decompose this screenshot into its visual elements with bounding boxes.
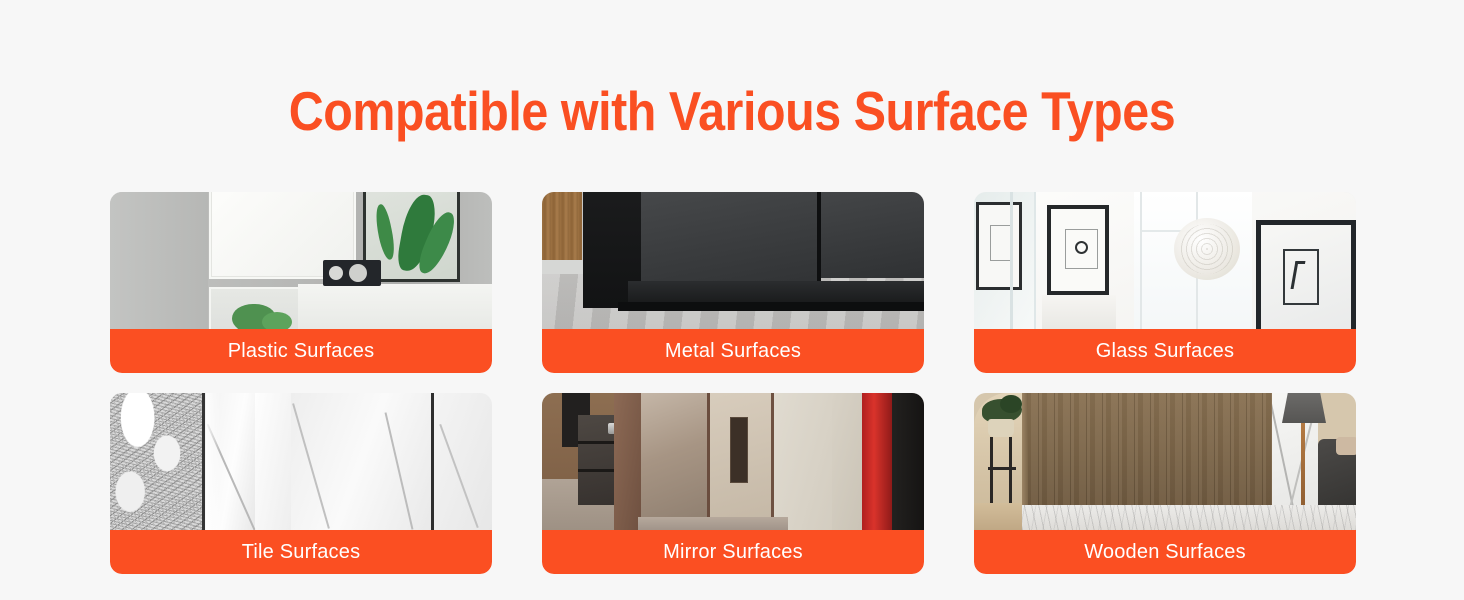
surface-card-glass[interactable]: Glass Surfaces	[974, 192, 1356, 373]
plastic-surface-photo	[110, 192, 492, 329]
surface-cards-grid: Plastic Surfaces Metal Surfaces	[110, 192, 1355, 574]
page-title: Compatible with Various Surface Types	[88, 80, 1376, 142]
surface-card-label-tile: Tile Surfaces	[110, 530, 492, 574]
surface-card-label-wooden: Wooden Surfaces	[974, 530, 1356, 574]
glass-surface-photo	[974, 192, 1356, 329]
surface-card-wooden[interactable]: Wooden Surfaces	[974, 393, 1356, 574]
surface-card-mirror[interactable]: Mirror Surfaces	[542, 393, 924, 574]
surface-card-tile[interactable]: Tile Surfaces	[110, 393, 492, 574]
tile-surface-photo	[110, 393, 492, 530]
surface-card-label-glass: Glass Surfaces	[974, 329, 1356, 373]
surface-card-label-plastic: Plastic Surfaces	[110, 329, 492, 373]
surface-card-metal[interactable]: Metal Surfaces	[542, 192, 924, 373]
surface-compatibility-page: Compatible with Various Surface Types Pl…	[0, 0, 1464, 600]
surface-card-label-metal: Metal Surfaces	[542, 329, 924, 373]
surface-card-plastic[interactable]: Plastic Surfaces	[110, 192, 492, 373]
surface-card-label-mirror: Mirror Surfaces	[542, 530, 924, 574]
wooden-surface-photo	[974, 393, 1356, 530]
mirror-surface-photo	[542, 393, 924, 530]
metal-surface-photo	[542, 192, 924, 329]
